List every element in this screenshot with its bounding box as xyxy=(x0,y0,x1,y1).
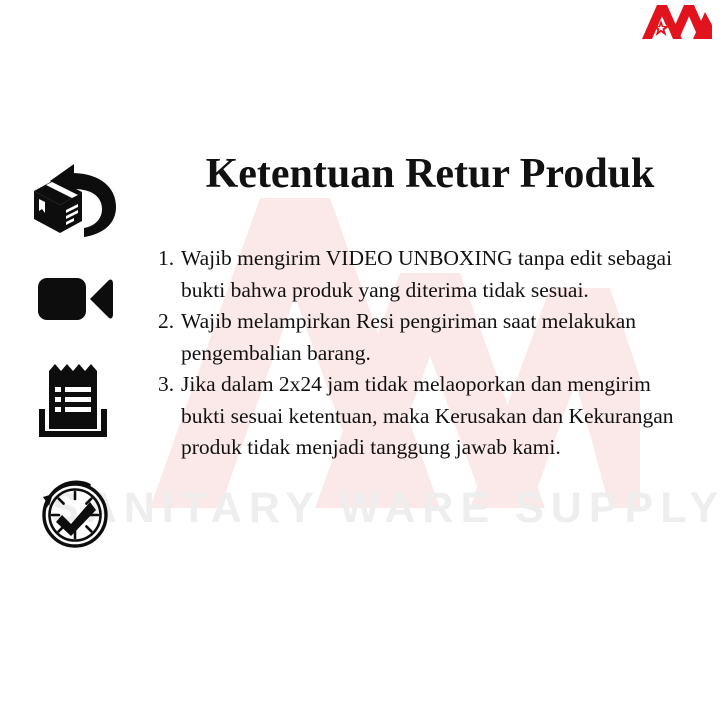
package-return-icon xyxy=(0,158,150,244)
list-item-text: Wajib melampirkan Resi pengiriman saat m… xyxy=(181,306,698,369)
receipt-icon xyxy=(0,358,150,444)
content-area: Ketentuan Retur Produk 1. Wajib mengirim… xyxy=(0,0,726,726)
list-item-number: 2. xyxy=(158,306,181,338)
list-item-number: 1. xyxy=(158,243,181,275)
clock-check-icon xyxy=(0,472,150,550)
list-item-text: Jika dalam 2x24 jam tidak melaoporkan da… xyxy=(181,369,698,464)
video-camera-icon xyxy=(0,268,150,330)
list-item-number: 3. xyxy=(158,369,181,401)
return-policy-page: SANITARY WARE SUPPLY xyxy=(0,0,726,726)
list-item: 2. Wajib melampirkan Resi pengiriman saa… xyxy=(158,306,698,369)
list-item: 1. Wajib mengirim VIDEO UNBOXING tanpa e… xyxy=(158,243,698,306)
page-title: Ketentuan Retur Produk xyxy=(150,152,710,196)
list-item-text: Wajib mengirim VIDEO UNBOXING tanpa edit… xyxy=(181,243,698,306)
am-mountain-logo-icon xyxy=(641,2,713,42)
return-policy-list: 1. Wajib mengirim VIDEO UNBOXING tanpa e… xyxy=(158,243,698,464)
list-item: 3. Jika dalam 2x24 jam tidak melaoporkan… xyxy=(158,369,698,464)
